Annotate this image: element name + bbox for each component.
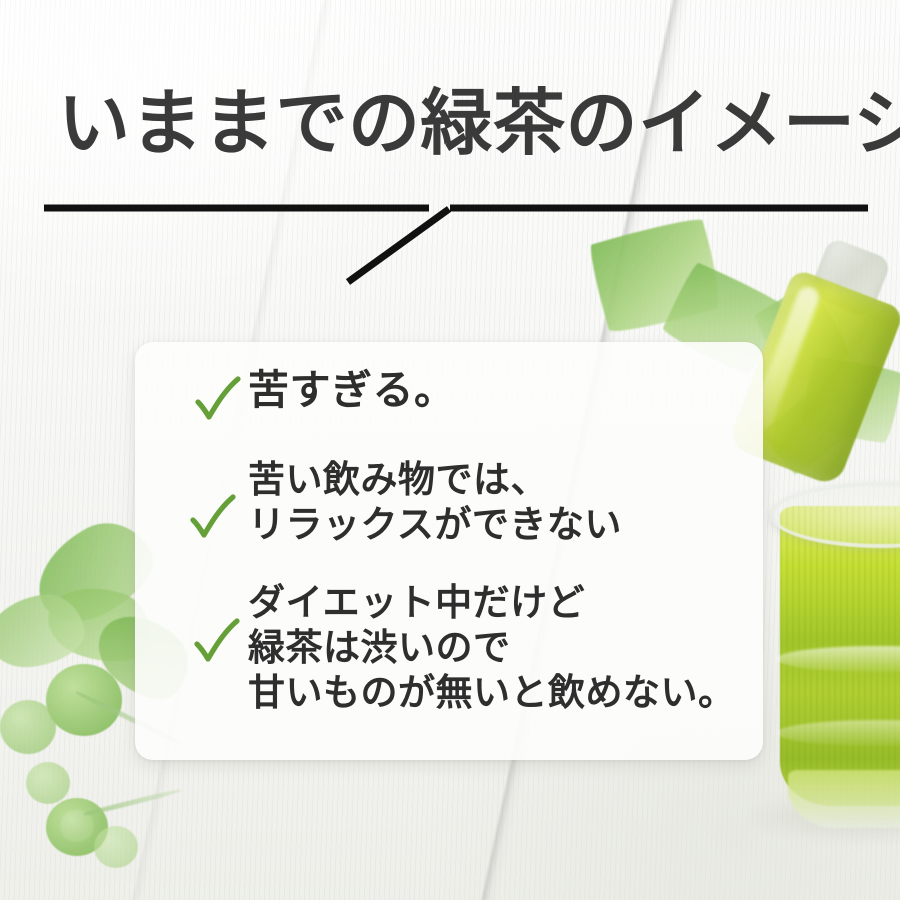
list-item-line: 苦い飲み物では、 <box>248 457 622 502</box>
leaf-decoration <box>94 826 138 868</box>
list-item-text: 苦すぎる。 <box>248 366 456 414</box>
glass-base <box>788 770 900 828</box>
promo-banner: いままでの緑茶のイメージ 苦すぎる。 苦い飲み物では、 <box>0 0 900 900</box>
check-mark-icon <box>193 372 247 426</box>
check-mark-icon <box>188 490 242 544</box>
list-item-line: 甘いものが無いと飲めない。 <box>248 671 736 716</box>
list-item-text: 苦い飲み物では、 リラックスができない <box>248 457 622 547</box>
list-item-line: 緑茶は渋いので <box>248 626 736 671</box>
list-item-line: 苦すぎる。 <box>248 366 456 414</box>
check-mark-icon <box>192 614 246 668</box>
list-item-line: ダイエット中だけど <box>248 581 736 626</box>
leaf-decoration <box>46 664 122 736</box>
page-title: いままでの緑茶のイメージ <box>58 88 870 160</box>
leaf-decoration <box>26 762 70 804</box>
glass-of-tea-decoration <box>770 470 900 822</box>
title-underline-pointer <box>40 186 872 294</box>
list-item-text: ダイエット中だけど 緑茶は渋いので 甘いものが無いと飲めない。 <box>248 581 736 715</box>
leaf-decoration <box>0 700 56 754</box>
list-item-line: リラックスができない <box>248 502 622 547</box>
complaints-card: 苦すぎる。 苦い飲み物では、 リラックスができない ダイエット中だけど <box>135 342 763 760</box>
